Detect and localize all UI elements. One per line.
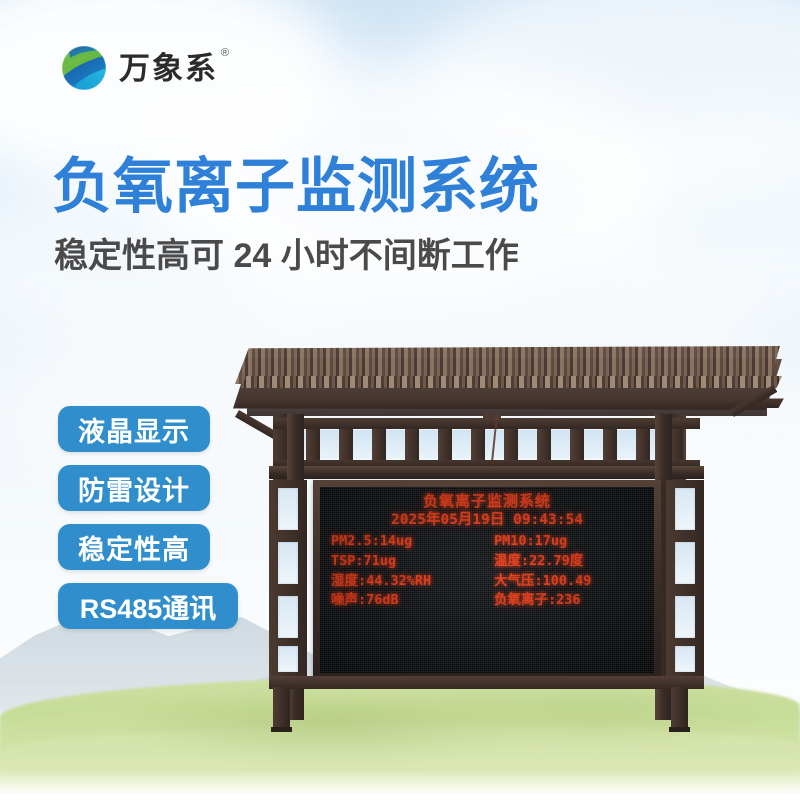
- lattice-opening: [419, 430, 438, 459]
- tiled-roof: [225, 340, 790, 412]
- side-window: [675, 596, 695, 638]
- led-reading-row: TSP:71ug 温度:22.79度: [329, 553, 645, 569]
- side-window: [675, 542, 695, 584]
- led-display-screen[interactable]: 负氧离子监测系统 2025年05月19日 09:43:54 PM2.5:14ug…: [320, 487, 654, 673]
- led-reading-row: 湿度:44.32%RH 大气压:100.49: [329, 573, 645, 589]
- product-poster: 万象系® 负氧离子监测系统 稳定性高可 24 小时不间断工作 液晶显示 防雷设计…: [0, 0, 800, 800]
- lattice-top-rail: [273, 418, 700, 429]
- lattice-slat: [306, 429, 320, 460]
- side-window: [278, 488, 298, 530]
- led-title: 负氧离子监测系统: [329, 493, 645, 510]
- lattice-slat: [570, 429, 584, 460]
- upper-lattice: [273, 418, 700, 470]
- brand-name-text: 万象系: [119, 51, 218, 86]
- lattice-slat: [405, 429, 419, 460]
- led-reading-temperature: 温度:22.79度: [482, 553, 645, 569]
- lattice-opening: [584, 430, 603, 459]
- side-window: [675, 488, 695, 530]
- led-reading-pm10: PM10:17ug: [482, 533, 645, 549]
- lattice-opening: [386, 430, 405, 459]
- feature-badge-lightning-protection[interactable]: 防雷设计: [58, 465, 210, 511]
- led-reading-row: PM2.5:14ug PM10:17ug: [329, 533, 645, 549]
- side-window: [278, 542, 298, 584]
- led-readings-grid: PM2.5:14ug PM10:17ug TSP:71ug 温度:22.79度 …: [329, 533, 645, 608]
- led-reading-noise: 噪声:76dB: [329, 592, 482, 608]
- side-panel-right: [666, 480, 704, 676]
- leg-foot-left: [271, 727, 292, 732]
- led-reading-pressure: 大气压:100.49: [482, 573, 645, 589]
- roof-tile-edge: [233, 376, 782, 388]
- lattice-opening: [320, 430, 339, 459]
- led-reading-row: 噪声:76dB 负氧离子:236: [329, 592, 645, 608]
- lattice-slat: [372, 429, 386, 460]
- lattice-opening: [452, 430, 471, 459]
- led-reading-tsp: TSP:71ug: [329, 553, 482, 569]
- lattice-opening: [551, 430, 570, 459]
- bottom-rail: [269, 676, 704, 689]
- lattice-opening: [353, 430, 372, 459]
- feature-badge-rs485[interactable]: RS485通讯: [58, 583, 238, 629]
- brand-logo: 万象系®: [58, 42, 218, 94]
- led-reading-pm25: PM2.5:14ug: [329, 533, 482, 549]
- side-window: [278, 596, 298, 638]
- registered-mark: ®: [221, 48, 231, 59]
- led-reading-negative-ion: 负氧离子:236: [482, 592, 645, 608]
- brand-name: 万象系®: [119, 53, 218, 84]
- support-leg-right: [671, 687, 688, 731]
- support-leg-left: [273, 687, 290, 731]
- lattice-opening: [617, 430, 636, 459]
- header-beam: [269, 466, 704, 479]
- roof-underside: [247, 406, 767, 416]
- lattice-slat: [537, 429, 551, 460]
- lattice-slat: [504, 429, 518, 460]
- side-window: [675, 646, 695, 672]
- feature-badge-stability[interactable]: 稳定性高: [58, 524, 210, 570]
- feature-badge-lcd[interactable]: 液晶显示: [58, 406, 210, 452]
- feature-badge-list: 液晶显示 防雷设计 稳定性高 RS485通讯: [58, 406, 238, 629]
- led-reading-humidity: 湿度:44.32%RH: [329, 573, 482, 589]
- lattice-slat: [438, 429, 452, 460]
- lattice-slat: [636, 429, 650, 460]
- side-panel-left: [269, 480, 307, 676]
- bottom-fade: [0, 770, 800, 800]
- page-title: 负氧离子监测系统: [52, 155, 540, 218]
- cable-junction-box: [483, 412, 501, 419]
- lattice-slat: [339, 429, 353, 460]
- lattice-opening: [518, 430, 537, 459]
- lattice-slat: [471, 429, 485, 460]
- monitoring-station: 负氧离子监测系统 2025年05月19日 09:43:54 PM2.5:14ug…: [225, 340, 790, 720]
- led-display-frame: 负氧离子监测系统 2025年05月19日 09:43:54 PM2.5:14ug…: [313, 480, 661, 680]
- globe-swirl-logo-icon: [58, 42, 110, 94]
- page-subtitle: 稳定性高可 24 小时不间断工作: [54, 238, 519, 275]
- side-window: [278, 646, 298, 672]
- lattice-slat: [603, 429, 617, 460]
- leg-foot-right: [669, 727, 690, 732]
- led-datetime: 2025年05月19日 09:43:54: [329, 512, 645, 529]
